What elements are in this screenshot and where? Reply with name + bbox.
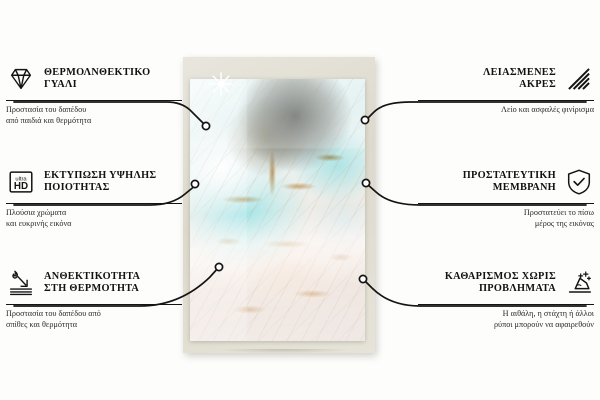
feature-protective-film: ΠΡΟΣΤΑΤΕΥΤΙΚΗ ΜΕΜΒΡΑΝΗ Προστατεύει το πί… — [418, 165, 594, 229]
feature-heat-resistance: ΑΝΘΕΚΤΙΚΟΤΗΤΑ ΣΤΗ ΘΕΡΜΟΤΗΤΑ Προστασία το… — [6, 266, 182, 330]
feature-body: Η αιθάλη, η στάχτη ή άλλοι ρύποι μπορούν… — [418, 309, 594, 330]
ultra-hd-icon: ultra HD — [6, 167, 36, 197]
feature-title: ΑΝΘΕΚΤΙΚΟΤΗΤΑ ΣΤΗ ΘΕΡΜΟΤΗΤΑ — [44, 271, 140, 296]
ultra-hd-bottom: HD — [14, 181, 28, 192]
feature-title: ΕΚΤΥΠΩΣΗ ΥΨΗΛΗΣ ΠΟΙΟΤΗΤΑΣ — [44, 170, 156, 195]
feature-header: ΑΝΘΕΚΤΙΚΟΤΗΤΑ ΣΤΗ ΘΕΡΜΟΤΗΤΑ — [6, 266, 182, 300]
feature-title: ΘΕΡΜΟΛΝΘΕΚΤΙΚΟ ΓΥΑΛΙ — [44, 67, 151, 92]
feature-divider — [418, 304, 594, 305]
feature-body: Πλούσια χρώματα και ευκρινής εικόνα — [6, 208, 182, 229]
feature-title: ΠΡΟΣΤΑΤΕΥΤΙΚΗ ΜΕΜΒΡΑΝΗ — [463, 170, 556, 195]
feature-body: Λείο και ασφαλές φινίρισμα — [418, 105, 594, 116]
feature-divider — [6, 203, 182, 204]
feature-header: ΛΕΙΑΣΜΕΝΕΣ ΑΚΡΕΣ — [418, 62, 594, 96]
easy-clean-icon — [564, 268, 594, 298]
feature-body: Προστασία του δαπέδου από σπίθες και θερ… — [6, 309, 182, 330]
feature-body: Προστατεύει το πίσω μέρος της εικόνας — [418, 208, 594, 229]
feature-divider — [418, 100, 594, 101]
feature-thermal-glass: ΘΕΡΜΟΛΝΘΕΚΤΙΚΟ ΓΥΑΛΙ Προστασία του δαπέδ… — [6, 62, 182, 126]
feature-divider — [418, 203, 594, 204]
feature-header: ΘΕΡΜΟΛΝΘΕΚΤΙΚΟ ΓΥΑΛΙ — [6, 62, 182, 96]
feature-body: Προστασία του δαπέδου από παιδιά και θερ… — [6, 105, 182, 126]
feature-polished-edges: ΛΕΙΑΣΜΕΝΕΣ ΑΚΡΕΣ Λείο και ασφαλές φινίρι… — [418, 62, 594, 116]
feature-title: ΛΕΙΑΣΜΕΝΕΣ ΑΚΡΕΣ — [483, 67, 556, 92]
polished-edges-icon — [564, 64, 594, 94]
shield-check-icon — [564, 167, 594, 197]
feature-header: ΚΑΘΑΡΙΣΜΟΣ ΧΩΡΙΣ ΠΡΟΒΛΗΜΑΤΑ — [418, 266, 594, 300]
feature-title: ΚΑΘΑΡΙΣΜΟΣ ΧΩΡΙΣ ΠΡΟΒΛΗΜΑΤΑ — [445, 271, 556, 296]
heat-resistance-icon — [6, 268, 36, 298]
feature-divider — [6, 100, 182, 101]
feature-easy-cleaning: ΚΑΘΑΡΙΣΜΟΣ ΧΩΡΙΣ ΠΡΟΒΛΗΜΑΤΑ Η αιθάλη, η … — [418, 266, 594, 330]
feature-header: ultra HD ΕΚΤΥΠΩΣΗ ΥΨΗΛΗΣ ΠΟΙΟΤΗΤΑΣ — [6, 165, 182, 199]
panel-drop-shadow — [191, 349, 377, 361]
diamond-icon — [6, 64, 36, 94]
artwork-fine-veins — [190, 79, 365, 341]
feature-header: ΠΡΟΣΤΑΤΕΥΤΙΚΗ ΜΕΜΒΡΑΝΗ — [418, 165, 594, 199]
feature-divider — [6, 304, 182, 305]
panel-artwork — [190, 79, 365, 341]
product-panel — [183, 57, 375, 353]
infographic-canvas: ΘΕΡΜΟΛΝΘΕΚΤΙΚΟ ΓΥΑΛΙ Προστασία του δαπέδ… — [0, 0, 600, 400]
feature-high-quality-print: ultra HD ΕΚΤΥΠΩΣΗ ΥΨΗΛΗΣ ΠΟΙΟΤΗΤΑΣ Πλούσ… — [6, 165, 182, 229]
